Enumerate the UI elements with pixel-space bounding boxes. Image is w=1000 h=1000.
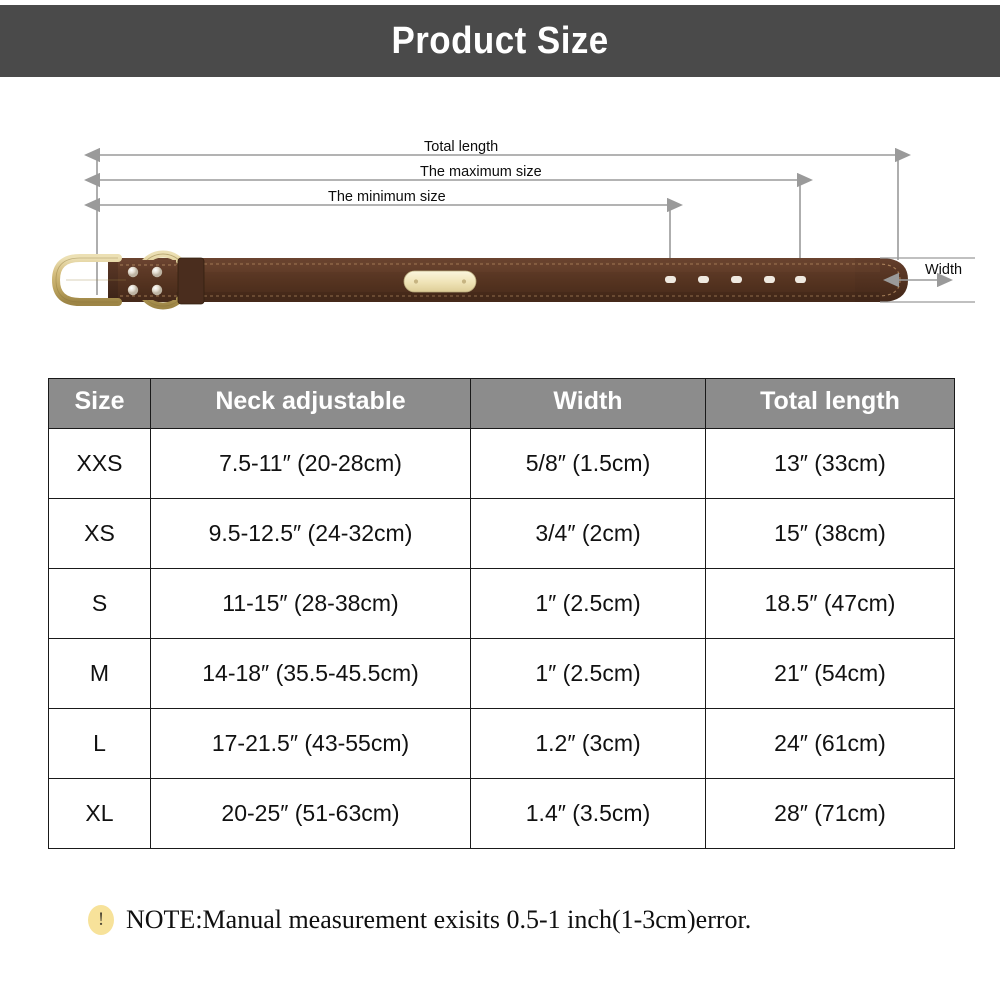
cell-total: 13″ (33cm) bbox=[706, 429, 955, 499]
column-header-width: Width bbox=[471, 379, 706, 429]
table-header-row: Size Neck adjustable Width Total length bbox=[49, 379, 955, 429]
table-row: M 14-18″ (35.5-45.5cm) 1″ (2.5cm) 21″ (5… bbox=[49, 639, 955, 709]
table-body: XXS 7.5-11″ (20-28cm) 5/8″ (1.5cm) 13″ (… bbox=[49, 429, 955, 849]
cell-size: M bbox=[49, 639, 151, 709]
cell-width: 1.4″ (3.5cm) bbox=[471, 779, 706, 849]
cell-width: 1.2″ (3cm) bbox=[471, 709, 706, 779]
cell-neck: 9.5-12.5″ (24-32cm) bbox=[151, 499, 471, 569]
cell-total: 28″ (71cm) bbox=[706, 779, 955, 849]
table-row: XS 9.5-12.5″ (24-32cm) 3/4″ (2cm) 15″ (3… bbox=[49, 499, 955, 569]
cell-total: 21″ (54cm) bbox=[706, 639, 955, 709]
exclamation-icon: ! bbox=[88, 905, 114, 935]
cell-neck: 20-25″ (51-63cm) bbox=[151, 779, 471, 849]
note-text: NOTE:Manual measurement exisits 0.5-1 in… bbox=[126, 905, 751, 935]
collar-nameplate bbox=[404, 271, 476, 292]
cell-width: 1″ (2.5cm) bbox=[471, 639, 706, 709]
cell-size: L bbox=[49, 709, 151, 779]
cell-width: 3/4″ (2cm) bbox=[471, 499, 706, 569]
table-row: S 11-15″ (28-38cm) 1″ (2.5cm) 18.5″ (47c… bbox=[49, 569, 955, 639]
measurement-note: ! NOTE:Manual measurement exisits 0.5-1 … bbox=[88, 905, 751, 935]
cell-neck: 14-18″ (35.5-45.5cm) bbox=[151, 639, 471, 709]
product-size-header-bar: Product Size bbox=[0, 5, 1000, 77]
cell-width: 5/8″ (1.5cm) bbox=[471, 429, 706, 499]
dimension-label-total-length: Total length bbox=[424, 139, 498, 155]
table-header: Size Neck adjustable Width Total length bbox=[49, 379, 955, 429]
collar-measurement-diagram: Total length The maximum size The minimu… bbox=[0, 110, 1000, 350]
table-row: XL 20-25″ (51-63cm) 1.4″ (3.5cm) 28″ (71… bbox=[49, 779, 955, 849]
table-row: XXS 7.5-11″ (20-28cm) 5/8″ (1.5cm) 13″ (… bbox=[49, 429, 955, 499]
cell-neck: 17-21.5″ (43-55cm) bbox=[151, 709, 471, 779]
cell-size: XL bbox=[49, 779, 151, 849]
cell-neck: 11-15″ (28-38cm) bbox=[151, 569, 471, 639]
cell-width: 1″ (2.5cm) bbox=[471, 569, 706, 639]
cell-neck: 7.5-11″ (20-28cm) bbox=[151, 429, 471, 499]
cell-total: 18.5″ (47cm) bbox=[706, 569, 955, 639]
cell-size: S bbox=[49, 569, 151, 639]
column-header-total: Total length bbox=[706, 379, 955, 429]
dimension-label-minimum-size: The minimum size bbox=[328, 189, 446, 205]
cell-size: XXS bbox=[49, 429, 151, 499]
size-chart-table: Size Neck adjustable Width Total length … bbox=[48, 378, 955, 849]
column-header-size: Size bbox=[49, 379, 151, 429]
page-title: Product Size bbox=[391, 20, 608, 63]
cell-size: XS bbox=[49, 499, 151, 569]
cell-total: 24″ (61cm) bbox=[706, 709, 955, 779]
cell-total: 15″ (38cm) bbox=[706, 499, 955, 569]
table-row: L 17-21.5″ (43-55cm) 1.2″ (3cm) 24″ (61c… bbox=[49, 709, 955, 779]
column-header-neck: Neck adjustable bbox=[151, 379, 471, 429]
diagram-svg bbox=[0, 110, 1000, 350]
dimension-label-width: Width bbox=[925, 262, 962, 278]
dimension-label-maximum-size: The maximum size bbox=[420, 164, 542, 180]
